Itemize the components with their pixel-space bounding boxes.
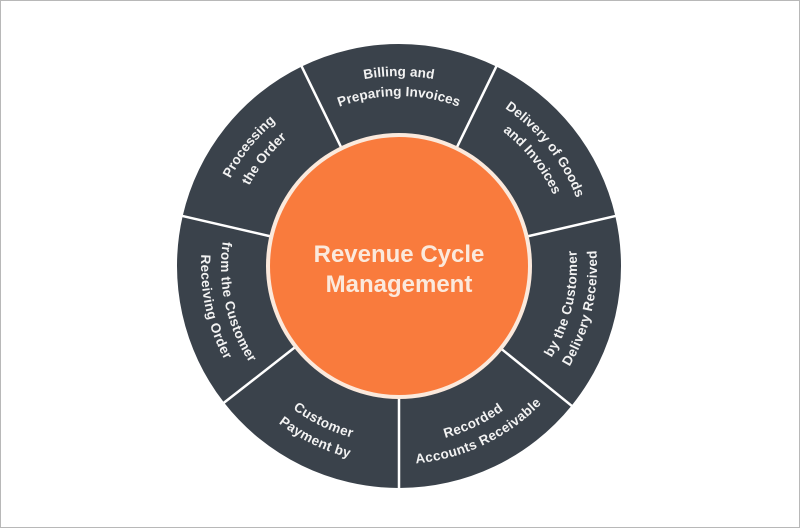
- center-title-line2: Management: [326, 271, 473, 298]
- center-title-line1: Revenue Cycle: [314, 241, 485, 268]
- center-hub: Revenue CycleManagement: [266, 133, 532, 399]
- revenue-cycle-wheel: Revenue CycleManagement Processingthe Or…: [1, 1, 800, 529]
- diagram-canvas: Revenue CycleManagement Processingthe Or…: [0, 0, 800, 528]
